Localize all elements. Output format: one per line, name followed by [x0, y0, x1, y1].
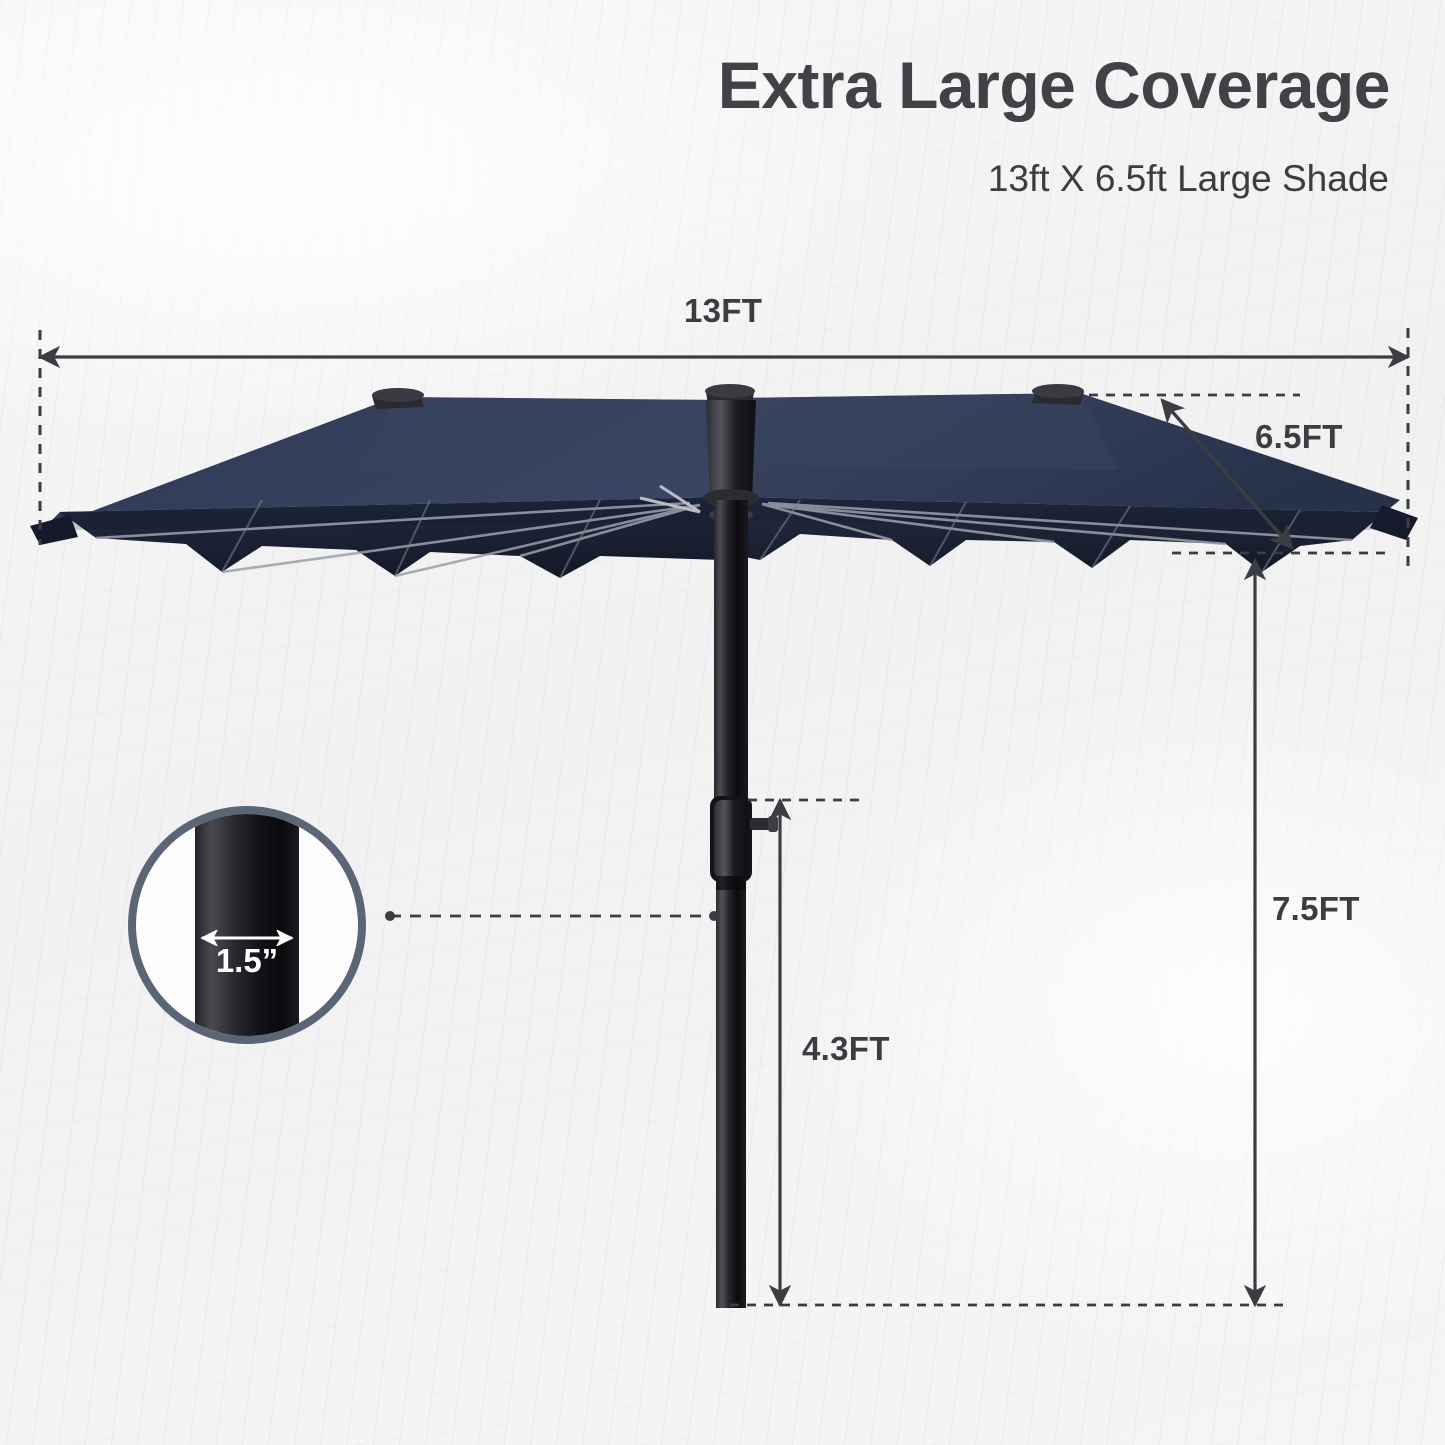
callout-leader-line — [385, 911, 719, 921]
dimension-width-13ft — [40, 328, 1408, 572]
infographic-canvas: Extra Large Coverage 13ft X 6.5ft Large … — [0, 0, 1445, 1445]
dimension-label-depth: 6.5FT — [1255, 418, 1343, 456]
dimension-label-width: 13FT — [684, 292, 762, 330]
pole-diameter-callout: 1.5” — [128, 806, 366, 1044]
callout-diameter-label: 1.5” — [216, 942, 278, 980]
dimension-label-height: 7.5FT — [1272, 890, 1360, 928]
dimension-label-crank-height: 4.3FT — [802, 1030, 890, 1068]
callout-pole-graphic — [195, 806, 299, 1044]
dimension-overlay — [0, 0, 1445, 1445]
